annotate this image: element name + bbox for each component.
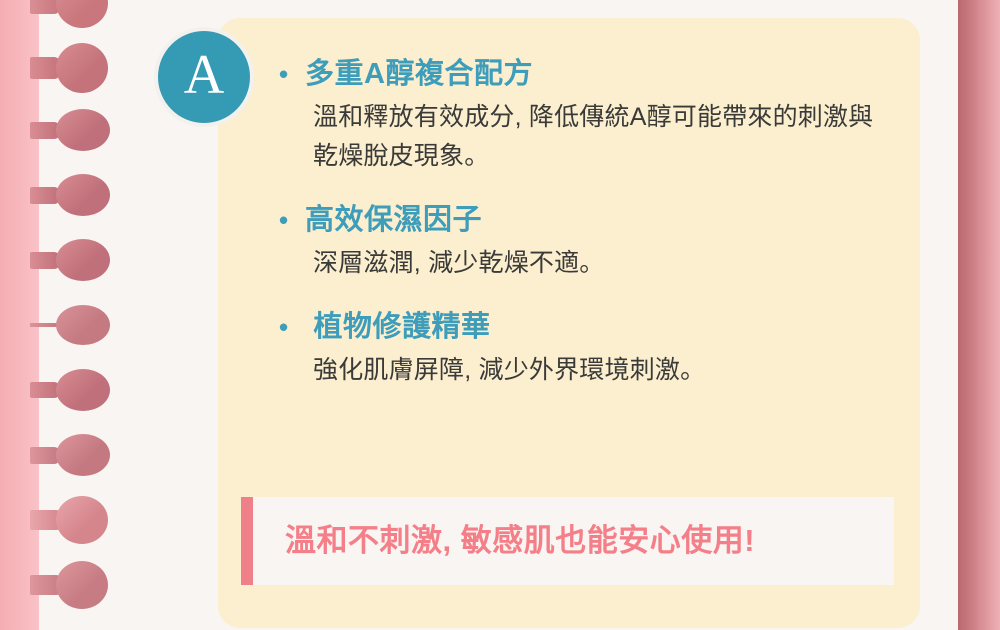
- binder-strip-left: [0, 0, 39, 630]
- feature-item: •高效保濕因子深層滋潤, 減少乾燥不適。: [279, 201, 899, 283]
- feature-description: 深層滋潤, 減少乾燥不適。: [313, 244, 891, 283]
- bullet-icon: •: [279, 308, 305, 346]
- feature-heading-row: •高效保濕因子: [279, 201, 899, 239]
- feature-item: • 植物修護精華強化肌膚屏障, 減少外界環境刺激。: [279, 308, 899, 390]
- letter-badge: A: [158, 31, 250, 123]
- callout-text: 溫和不刺激, 敏感肌也能安心使用!: [285, 522, 755, 559]
- slide-canvas: A •多重A醇複合配方溫和釋放有效成分, 降低傳統A醇可能帶來的刺激與乾燥脫皮現…: [0, 0, 1000, 630]
- feature-list: •多重A醇複合配方溫和釋放有效成分, 降低傳統A醇可能帶來的刺激與乾燥脫皮現象。…: [279, 55, 899, 415]
- feature-item: •多重A醇複合配方溫和釋放有效成分, 降低傳統A醇可能帶來的刺激與乾燥脫皮現象。: [279, 55, 899, 176]
- feature-title: 植物修護精華: [305, 308, 491, 346]
- callout-banner: 溫和不刺激, 敏感肌也能安心使用!: [241, 497, 894, 585]
- letter-badge-text: A: [184, 47, 224, 103]
- page-edge-strip-right: [958, 0, 1000, 630]
- feature-heading-row: •多重A醇複合配方: [279, 55, 899, 93]
- feature-title: 多重A醇複合配方: [305, 55, 533, 93]
- callout-accent-bar: [241, 497, 253, 585]
- bullet-icon: •: [279, 201, 305, 239]
- feature-heading-row: • 植物修護精華: [279, 308, 899, 346]
- feature-description: 強化肌膚屏障, 減少外界環境刺激。: [313, 351, 891, 390]
- feature-description: 溫和釋放有效成分, 降低傳統A醇可能帶來的刺激與乾燥脫皮現象。: [313, 98, 891, 176]
- bullet-icon: •: [279, 55, 305, 93]
- feature-title: 高效保濕因子: [305, 201, 482, 239]
